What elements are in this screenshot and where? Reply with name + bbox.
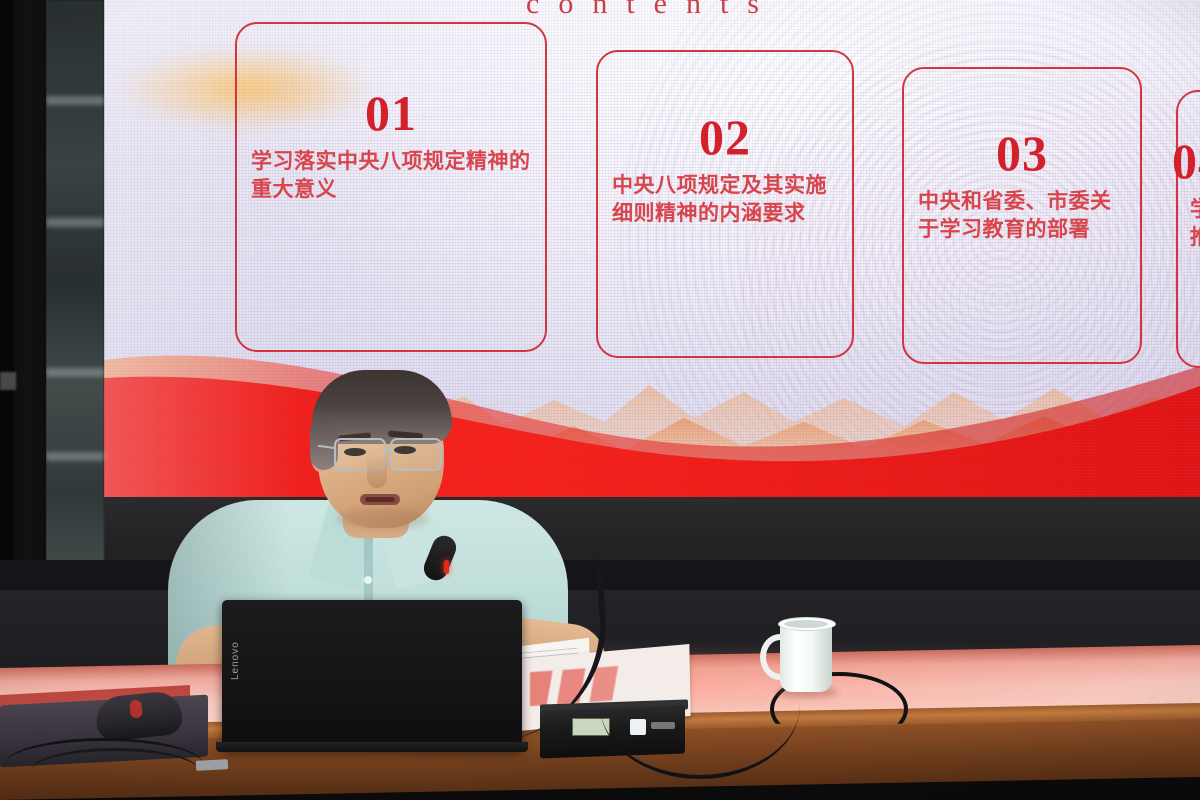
glass-reflection-streak [46,452,104,461]
mug-interior [784,620,828,628]
slide-title: contents [104,0,1200,21]
mouse-accent-stripe [129,699,143,718]
card-description: 中央和省委、市委关于学习教育的部署 [918,188,1132,244]
card-number: 04 [1172,136,1200,186]
glass-reflection-streak [46,218,104,227]
card-description: 学习落实中央八项规定精神的重大意义 [251,148,537,204]
chin-shadow [336,508,428,530]
shirt-button [364,576,372,584]
wall-fitting [0,372,16,390]
content-card-02: 02 中央八项规定及其实施细则精神的内涵要求 [596,50,854,358]
mouth-opening [365,497,395,502]
glasses-bridge [382,448,392,450]
eyeglasses [328,438,452,468]
lenovo-logo: Lenovo [230,638,242,680]
card-number: 03 [904,128,1140,178]
glass-reflection-streak [46,96,104,105]
card-description: 学习落实中央八项规定精神，推动招商引资和项目建设工作 [1190,196,1200,252]
glass-reflection-streak [46,368,104,377]
lens-right [390,438,442,471]
usb-connector [196,759,228,771]
microphone-status-led [444,560,449,574]
content-card-03: 03 中央和省委、市委关于学习教育的部署 [902,67,1142,364]
card-description: 中央八项规定及其实施细则精神的内涵要求 [612,172,844,228]
content-card-01: 01 学习落实中央八项规定精神的重大意义 [235,22,547,352]
mouse-cable-secondary [30,748,200,795]
laptop-base [216,742,528,752]
card-number: 02 [598,112,852,162]
screenshot-scene: contents 01 学习落实中央八项规定精神的重大意义 02 中央八项规定及… [0,0,1200,800]
content-card-04: 04 学习落实中央八项规定精神，推动招商引资和项目建设工作 [1176,90,1200,368]
card-number: 01 [237,88,545,138]
nose [367,454,387,488]
